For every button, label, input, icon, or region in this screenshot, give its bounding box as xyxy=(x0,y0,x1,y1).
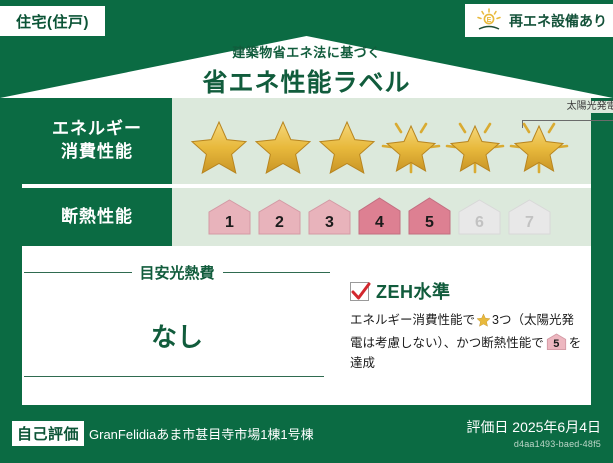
insulation-level-house: 6 xyxy=(456,197,503,237)
energy-performance-label-box: エネルギー 消費性能 xyxy=(22,98,172,184)
insulation-level-house: 7 xyxy=(506,197,553,237)
sun-icon: E xyxy=(475,8,503,34)
property-name: GranFelidiaあま市甚目寺市場1棟1号棟 xyxy=(89,424,314,443)
zeh-title: ZEH水準 xyxy=(376,278,451,304)
star-icon-solar xyxy=(380,116,442,174)
insulation-level-scale: 1 2 3 xyxy=(172,197,553,237)
utility-cost-heading-text: 目安光熱費 xyxy=(140,262,215,283)
insulation-level-number: 5 xyxy=(425,214,434,237)
renewable-equipment-tag: E 再エネ設備あり xyxy=(465,4,613,37)
lower-section: 目安光熱費 なし ZEH水準 エネルギー消費性能で xyxy=(22,256,591,395)
evaluation-date: 評価日 2025年6月4日 xyxy=(466,417,601,437)
zeh-panel: ZEH水準 エネルギー消費性能で 3つ（太陽光発電は考慮しない）、かつ断熱性能で… xyxy=(332,256,591,395)
svg-text:E: E xyxy=(487,17,492,24)
label-body-card: エネルギー 消費性能 太陽光発電(自家消費)分 xyxy=(22,98,591,405)
label-footer: 自己評価 GranFelidiaあま市甚目寺市場1棟1号棟 評価日 2025年6… xyxy=(0,405,613,463)
insulation-performance-body: 1 2 3 xyxy=(172,188,591,246)
insulation-level-number: 6 xyxy=(475,214,484,237)
star-icon xyxy=(188,116,250,174)
utility-cost-bottom-rule xyxy=(24,376,324,377)
zeh-description: エネルギー消費性能で 3つ（太陽光発電は考慮しない）、かつ断熱性能で 5 を達成 xyxy=(350,311,585,373)
zeh-checkbox[interactable] xyxy=(350,282,369,301)
insulation-level-number: 3 xyxy=(325,214,334,237)
evaluation-hash: d4aa1493-baed-48f5 xyxy=(514,439,601,449)
energy-label-line1: エネルギー xyxy=(52,118,142,141)
utility-cost-panel: 目安光熱費 なし xyxy=(22,256,332,395)
solar-bracket-label: 太陽光発電(自家消費)分 xyxy=(522,101,613,113)
zeh-heading: ZEH水準 xyxy=(350,278,585,304)
star-icon-solar xyxy=(444,116,506,174)
energy-performance-label: 住宅(住戸) E 再エネ設備あり 建築物省エネ法に基づく 省エネ性能ラベ xyxy=(0,0,613,463)
insulation-level-number: 4 xyxy=(375,214,384,237)
housing-type-label: 住宅(住戸) xyxy=(16,11,89,32)
star-icon-solar xyxy=(508,116,570,174)
self-evaluation-badge: 自己評価 xyxy=(12,421,84,446)
insulation-level-house: 1 xyxy=(206,197,253,237)
housing-type-tag: 住宅(住戸) xyxy=(0,6,105,36)
zeh-desc-part1: エネルギー消費性能で xyxy=(350,313,475,327)
star-icon xyxy=(316,116,378,174)
insulation-level-number: 7 xyxy=(525,214,534,237)
label-title: 建築物省エネ法に基づく 省エネ性能ラベル xyxy=(0,42,613,99)
insulation-level-house: 4 xyxy=(356,197,403,237)
energy-performance-body: 太陽光発電(自家消費)分 xyxy=(172,98,591,184)
star-icon xyxy=(252,116,314,174)
label-main-title: 省エネ性能ラベル xyxy=(0,63,613,99)
utility-cost-heading: 目安光熱費 xyxy=(22,262,332,283)
label-subtitle: 建築物省エネ法に基づく xyxy=(0,42,613,61)
insulation-level-house: 5 xyxy=(406,197,453,237)
insulation-level-number: 2 xyxy=(275,214,284,237)
insulation-performance-row: 断熱性能 1 2 xyxy=(22,188,591,246)
heading-rule-right xyxy=(223,272,331,273)
utility-cost-value: なし xyxy=(22,317,332,354)
insulation-badge-inline: 5 xyxy=(546,333,567,351)
energy-star-rating xyxy=(172,116,570,174)
energy-label-line2: 消費性能 xyxy=(61,141,133,164)
insulation-performance-label-box: 断熱性能 xyxy=(22,188,172,246)
energy-performance-row: エネルギー 消費性能 太陽光発電(自家消費)分 xyxy=(22,98,591,184)
insulation-badge-number: 5 xyxy=(546,336,567,353)
insulation-level-house: 2 xyxy=(256,197,303,237)
insulation-level-house: 3 xyxy=(306,197,353,237)
insulation-level-number: 1 xyxy=(225,214,234,237)
insulation-label: 断熱性能 xyxy=(61,206,133,229)
renewable-equipment-label: 再エネ設備あり xyxy=(509,11,607,31)
star-icon-inline xyxy=(476,312,491,333)
heading-rule-left xyxy=(24,272,132,273)
